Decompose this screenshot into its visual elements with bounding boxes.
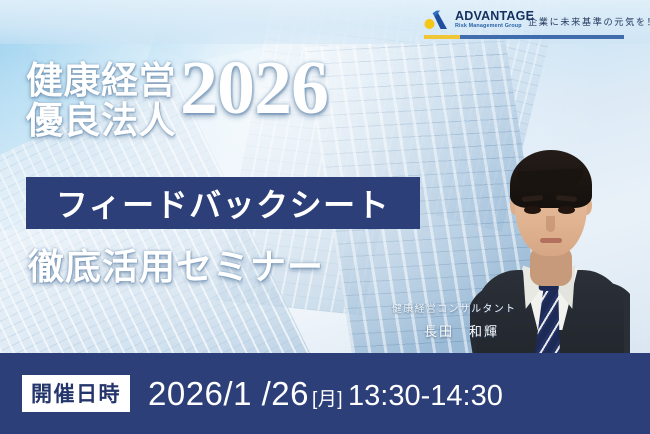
headline-year: 2026 [180, 56, 328, 121]
schedule-label: 開催日時 [22, 375, 130, 412]
portrait-mouth [540, 238, 562, 243]
speaker-name: 長田 和輝 [424, 321, 499, 340]
headline-line-1: 健康経営 [26, 62, 176, 100]
headline-block: 健康経営 優良法人 2026 [26, 62, 328, 139]
schedule-bar: 開催日時 2026/1 /26 [月] 13:30-14:30 [0, 353, 650, 434]
schedule-date: 2026/1 /26 [148, 375, 309, 413]
feedback-sheet-banner: フィードバックシート [26, 177, 420, 229]
brand-name: ADVANTAGE [455, 10, 534, 23]
schedule-day-of-week: [月] [312, 384, 343, 411]
portrait-eye-right [558, 206, 575, 214]
seminar-subheadline: 徹底活用セミナー [28, 238, 324, 290]
logo-bar: ADVANTAGE Risk Management Group 企業に未来基準の… [0, 0, 650, 44]
portrait-eye-left [524, 206, 541, 214]
headline-line-2: 優良法人 [26, 102, 176, 140]
speaker-role: 健康経営コンサルタント [392, 300, 516, 315]
schedule-value: 2026/1 /26 [月] 13:30-14:30 [148, 375, 503, 413]
brand-logo: ADVANTAGE Risk Management Group [424, 9, 534, 31]
schedule-time: 13:30-14:30 [348, 380, 503, 413]
feedback-sheet-banner-label: フィードバックシート [56, 180, 390, 226]
speaker-portrait [470, 124, 630, 354]
portrait-nose [546, 216, 555, 232]
brand-subtitle: Risk Management Group [455, 24, 534, 29]
headline-japanese-lines: 健康経営 優良法人 [26, 62, 176, 139]
logo-underline-rule [424, 35, 624, 39]
advantage-triangle-logo-icon [424, 9, 450, 31]
brand-logo-text: ADVANTAGE Risk Management Group [455, 10, 534, 29]
seminar-poster: ADVANTAGE Risk Management Group 企業に未来基準の… [0, 0, 650, 434]
brand-tagline: 企業に未来基準の元気を！ [528, 14, 650, 28]
